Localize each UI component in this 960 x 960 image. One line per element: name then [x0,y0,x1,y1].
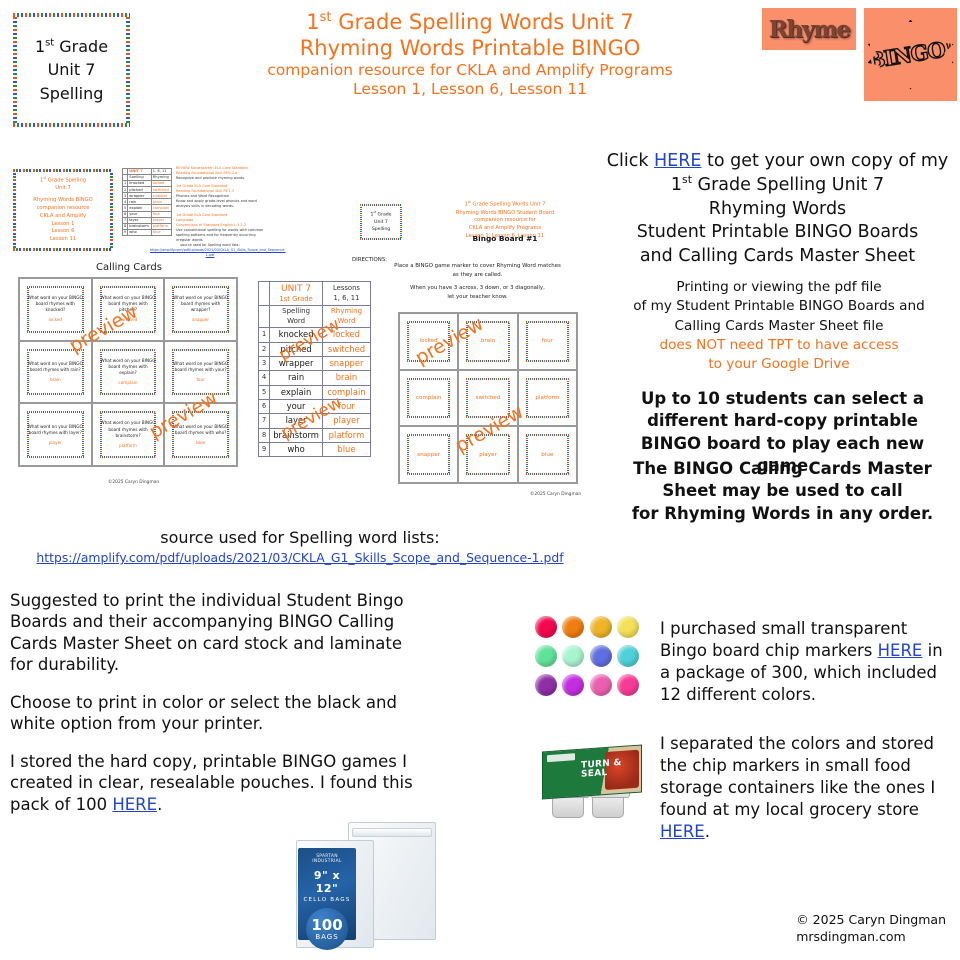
wordlist-row: 4rainbrain [259,371,371,385]
master-sheet-line2: Sheet may be used to call [630,480,935,502]
board-head-line3: companion resource for [420,217,590,225]
bingo-cell: switched [458,370,517,427]
container-tub [592,792,624,818]
get-copy-line3: Rhyming Words [600,198,955,221]
preview-source-link[interactable]: https://amplify.com/pdf/uploads/2021/03/… [150,248,286,257]
bag-count-badge: 100 BAGS [306,908,348,950]
board-head-line1: 1st Grade Spelling Words Unit 7 [420,200,590,210]
calling-card-question: What word on your BINGO board rhymes wit… [27,361,84,373]
preview-cover-sheet: 1st Grade Spelling Unit 7 Rhyming Words … [10,166,116,254]
preview-standards-list: REVIEW Kindergarten ELA Core Standard Re… [176,166,264,246]
calling-card: What word on your BINGO board rhymes wit… [25,409,86,460]
master-sheet-line3: for Rhyming Words in any order. [630,503,935,525]
bingo-cell: platform [518,370,577,427]
calling-card-question: What word on your BINGO board rhymes wit… [27,424,84,436]
board-copyright: ©2025 Caryn Dingman [530,492,581,497]
bingo-cell-word: platform [524,376,571,421]
preview-mini-wordlist-body: UNIT 7 1, 6, 11 Spelling Rhyming 1knocke… [123,169,172,236]
chip-swatch [590,645,612,667]
chip-swatch [535,645,557,667]
directions-line3: When you have 3 across, 3 down, or 3 dia… [370,284,585,293]
calling-card-answer: locked [49,317,63,323]
calling-card-question: What word on your BINGO board rhymes wit… [27,295,84,313]
preview-board-number: Bingo Board #1 [420,234,590,243]
unit-badge-line3: Spelling [40,82,104,105]
bingo-burst-text: BINGO! [866,35,955,73]
wordlist-row: 3wrappersnapper [259,356,371,370]
pdf-access-line5: to your Google Drive [625,355,933,374]
wordlist-row: 1knockedlocked [259,328,371,342]
bingo-cell: blue [518,426,577,483]
pdf-access-block: Printing or viewing the pdf file of my S… [625,278,933,374]
get-copy-line5: and Calling Cards Master Sheet [600,245,955,268]
chip-markers-block: I purchased small transparent Bingo boar… [660,618,950,706]
calling-card-answer: blue [196,440,205,446]
wordlist-row: 8brainstormplatform [259,428,371,442]
spelling-wordlist-body: UNIT 7 1st Grade Lessons 1, 6, 11 Spelli… [259,282,371,457]
calling-card: What word on your BINGO board rhymes wit… [25,347,86,398]
calling-card-answer: complain [118,380,137,386]
calling-card-answer: platform [119,443,137,449]
bingo-cell: four [518,313,577,370]
pdf-access-line1: Printing or viewing the pdf file [625,278,933,297]
calling-card: What word on your BINGO board rhymes wit… [98,409,159,460]
title-line-1: 1st Grade Spelling Words Unit 7 [200,10,740,36]
board-badge-line2: Unit 7 [374,220,388,227]
master-sheet-line1: The BINGO Calling Cards Master [630,458,935,480]
rhyme-logo-text: Rhyme [769,16,850,43]
title-line-3: companion resource for CKLA and Amplify … [200,61,740,80]
preview-mini-row: 9whoblue [123,229,172,235]
board-head-line2: Rhyming Words BINGO Student Board [420,210,590,218]
unit-badge-line1: 1st Grade [35,35,108,58]
calling-card-cell: What word on your BINGO board rhymes wit… [92,278,165,341]
title-line-2: Rhyming Words Printable BINGO [200,36,740,62]
calling-card-cell: What word on your BINGO board rhymes wit… [164,278,237,341]
chip-swatch [535,616,557,638]
unit-badge: 1st Grade Unit 7 Spelling [10,10,133,130]
get-copy-line4: Student Printable BINGO Boards [600,221,955,244]
preview-standard-item: 1st Grade ELA Core Standard Language Con… [176,213,264,243]
spelling-wordlist-table: UNIT 7 1st Grade Lessons 1, 6, 11 Spelli… [258,281,371,457]
chip-swatch [562,645,584,667]
wordlist-row: 2pitchedswitched [259,342,371,356]
footer-site: mrsdingman.com [796,929,946,946]
bingo-starburst-icon: BINGO! [864,8,957,101]
preview-cover-line4: companion resource [17,205,109,213]
wordlist-row: 6yourfour [259,399,371,413]
here-link-containers[interactable]: HERE [660,822,705,841]
bingo-cell: complain [399,370,458,427]
container-brand-bar [547,753,575,762]
here-link-bags[interactable]: HERE [112,795,157,814]
bag-kind: CELLO BAGS [302,897,352,903]
preview-cover-line5: CKLA and Amplify [17,213,109,221]
board-badge-line1: 1st Grade [370,210,391,219]
calling-card-question: What word on your BINGO board rhymes wit… [100,295,157,313]
wordlist-lessons-cell: Lessons 1, 6, 11 [322,282,370,306]
bingo-cell-word: blue [524,432,571,477]
preview-mini-col-rhyming: Rhyming [151,175,171,181]
calling-cards-title: Calling Cards [96,262,162,273]
page-root: 1st Grade Unit 7 Spelling 1st Grade Spel… [0,0,960,960]
students-line2: different hard-copy printable [630,410,935,432]
preview-cover-line1: 1st Grade Spelling [17,176,109,186]
bingo-cell: player [458,426,517,483]
preview-cover-line7: Lesson 6 [17,228,109,236]
bingo-cell-word: player [464,432,511,477]
bingo-cell: locked [399,313,458,370]
wordlist-header-row: UNIT 7 1st Grade Lessons 1, 6, 11 [259,282,371,306]
directions-line2: as they are called. [370,271,585,280]
calling-card: What word on your BINGO board rhymes wit… [170,347,231,398]
source-label: source used for Spelling word lists: [0,528,600,547]
calling-card-answer: four [196,377,204,383]
preview-source-note: source used for Spelling word lists: htt… [150,243,270,257]
wordlist-lessons-values: 1, 6, 11 [326,294,367,303]
footer: © 2025 Caryn Dingman mrsdingman.com [796,912,946,946]
tip-paragraph-3: I stored the hard copy, printable BINGO … [10,751,425,815]
calling-card-answer: player [49,440,62,446]
wordlist-subheader-row: Spelling Word Rhyming Word [259,306,371,328]
calling-card: What word on your BINGO board rhymes wit… [98,284,159,335]
chip-swatch [590,674,612,696]
tip-paragraph-1: Suggested to print the individual Studen… [10,590,425,676]
calling-card-cell: What word on your BINGO board rhymes wit… [19,341,92,404]
chip-swatch [617,674,639,696]
bag-count-unit: BAGS [315,934,338,941]
title-line-4: Lesson 1, Lesson 6, Lesson 11 [200,80,740,99]
get-copy-line2: 1st Grade Spelling Unit 7 [600,173,955,197]
bag-count-number: 100 [311,918,342,933]
pdf-access-line3: Calling Cards Master Sheet file [625,317,933,336]
calling-card-question: What word on your BINGO board rhymes wit… [172,424,229,436]
calling-card-answer: brain [50,377,61,383]
container-brand-text: TURN & SEAL [581,759,622,781]
calling-card-cell: What word on your BINGO board rhymes wit… [164,341,237,404]
calling-card-answer: snapper [192,317,209,323]
bingo-cell-word: switched [464,376,511,421]
source-url-link[interactable]: https://amplify.com/pdf/uploads/2021/03/… [0,550,600,565]
standard-body: Recognize and produce rhyming words. [176,176,264,181]
bingo-cell-word: locked [405,319,452,364]
here-link-chips[interactable]: HERE [878,641,923,660]
bag-size: 9" x 12" [302,869,352,895]
calling-card-question: What word on your BINGO board rhymes wit… [172,361,229,373]
chip-swatch [562,616,584,638]
wordlist-col-spelling: Spelling Word [270,306,323,328]
chip-swatch [617,645,639,667]
calling-card-cell: What word on your BINGO board rhymes wit… [164,403,237,466]
page-title: 1st Grade Spelling Words Unit 7 Rhyming … [200,10,740,99]
preview-standard-item: 1st Grade ELA Core Standard Reading Foun… [176,184,264,209]
wordlist-lessons-label: Lessons [326,284,367,293]
chip-swatch [590,616,612,638]
board-head-line4: CKLA and Amplify Programs [420,225,590,233]
chip-markers-image [534,616,640,700]
wordlist-col-rhyming: Rhyming Word [322,306,370,328]
here-link-get-copy[interactable]: HERE [654,151,701,171]
wordlist-unit-cell: UNIT 7 1st Grade [270,282,323,306]
wordlist-grade-label: 1st Grade [273,295,319,304]
wordlist-row: 9whoblue [259,442,371,456]
students-line1: Up to 10 students can select a [630,388,935,410]
wordlist-unit-label: UNIT 7 [273,283,319,295]
bingo-cell-word: complain [405,376,452,421]
bingo-cell: brain [458,313,517,370]
unit-badge-line2: Unit 7 [48,58,96,81]
calling-cards-copyright: ©2025 Caryn Dingman [108,480,159,485]
master-sheet-block: The BINGO Calling Cards Master Sheet may… [630,458,935,525]
board-badge-line3: Spelling [372,227,390,234]
preview-standard-item: REVIEW Kindergarten ELA Core Standard Re… [176,166,264,181]
calling-cards-grid: What word on your BINGO board rhymes wit… [18,277,238,467]
container-package-box: TURN & SEAL [542,745,642,800]
calling-card-cell: What word on your BINGO board rhymes wit… [19,403,92,466]
storage-containers-block: I separated the colors and stored the ch… [660,733,950,843]
bingo-cell: snapper [399,426,458,483]
printing-tips-block: Suggested to print the individual Studen… [10,590,425,831]
calling-card: What word on your BINGO board rhymes wit… [25,284,86,335]
calling-card: What word on your BINGO board rhymes wit… [98,347,159,398]
preview-cover-line6: Lesson 1 [17,221,109,229]
food-containers-image: TURN & SEAL [536,742,654,822]
pdf-access-line2: of my Student Printable BINGO Boards and [625,297,933,316]
cello-bags-image: SPARTAN INDUSTRIAL 9" x 12" CELLO BAGS 1… [290,812,450,957]
wordlist-row: 7layerplayer [259,414,371,428]
preview-cover-line2: Unit 7 [17,185,109,193]
preview-cover-line3: Rhyming Words BINGO [17,197,109,205]
calling-card-question: What word on your BINGO board rhymes wit… [100,420,157,438]
calling-card: What word on your BINGO board rhymes wit… [170,284,231,335]
directions-line4: let your teacher know. [370,293,585,302]
preview-mini-wordlist: UNIT 7 1, 6, 11 Spelling Rhyming 1knocke… [122,168,172,236]
footer-copyright: © 2025 Caryn Dingman [796,912,946,929]
calling-card: What word on your BINGO board rhymes wit… [170,409,231,460]
bag-brand: SPARTAN INDUSTRIAL [302,854,352,864]
standard-body-2: Know and apply grade-level phonics and w… [176,199,264,209]
starburst-shape: BINGO! [868,20,954,90]
calling-card-cell: What word on your BINGO board rhymes wit… [92,341,165,404]
pdf-access-line4: does NOT need TPT to have access [625,336,933,355]
standard-body-2: Use conventional spelling for words with… [176,228,264,243]
calling-card-question: What word on your BINGO board rhymes wit… [172,295,229,313]
wordlist-row: 5explaincomplain [259,385,371,399]
preview-board-directions: Place a BINGO game marker to cover Rhymi… [370,262,585,302]
get-copy-line1: Click HERE to get your own copy of my [600,150,955,173]
bingo-cell-word: four [524,319,571,364]
preview-mini-row: 8brainstormplatform [123,223,172,229]
calling-card-cell: What word on your BINGO board rhymes wit… [19,278,92,341]
tip-paragraph-2: Choose to print in color or select the b… [10,692,425,735]
calling-card-cell: What word on your BINGO board rhymes wit… [92,403,165,466]
chip-swatch [535,674,557,696]
preview-bingo-board-grid: locked brain four complain switched plat… [398,312,578,484]
rhyme-wordart-logo: Rhyme [762,8,856,50]
get-copy-block: Click HERE to get your own copy of my 1s… [600,150,955,268]
chip-swatch [562,674,584,696]
preview-cover-line8: Lesson 11 [17,236,109,244]
bingo-cell-word: snapper [405,432,452,477]
bag-label: SPARTAN INDUSTRIAL 9" x 12" CELLO BAGS 1… [298,848,356,940]
calling-card-question: What word on your BINGO board rhymes wit… [100,358,157,376]
bingo-cell-word: brain [464,319,511,364]
directions-line1: Place a BINGO game marker to cover Rhymi… [370,262,585,271]
preview-board-badge: 1st Grade Unit 7 Spelling [358,202,404,242]
chip-swatch [617,616,639,638]
calling-card-answer: switched [119,317,138,323]
